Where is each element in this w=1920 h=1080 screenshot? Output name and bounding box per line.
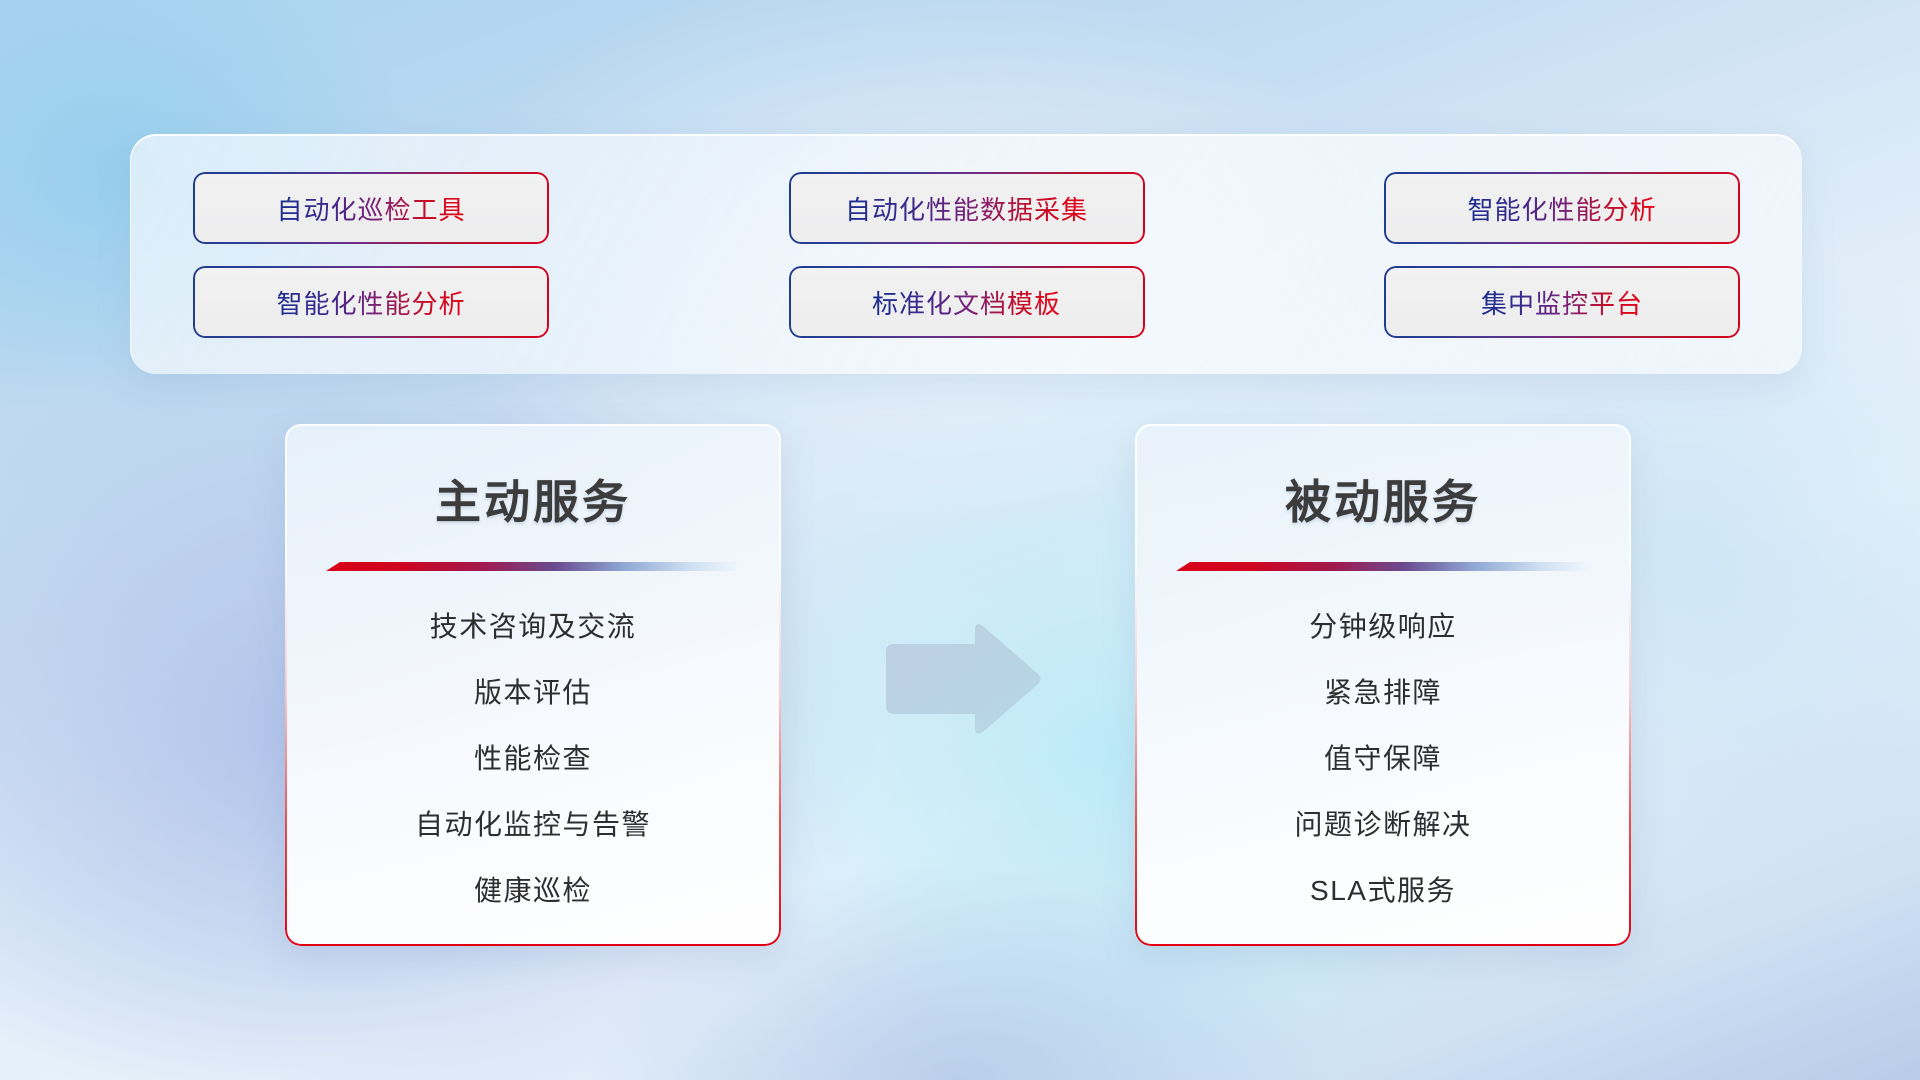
capability-pill-label: 自动化性能数据采集 (845, 190, 1088, 227)
capability-pill-label: 自动化巡检工具 (276, 190, 465, 227)
list-item: 技术咨询及交流 (430, 605, 637, 645)
list-item: 分钟级响应 (1309, 605, 1457, 645)
infographic-canvas: 自动化巡检工具 自动化性能数据采集 智能化性能分析 智能化性能分析 标准化文档模… (0, 0, 1920, 1080)
list-item: SLA式服务 (1310, 869, 1456, 909)
list-item: 自动化监控与告警 (415, 803, 651, 843)
list-item: 问题诊断解决 (1294, 803, 1471, 843)
capabilities-row-2: 智能化性能分析 标准化文档模板 集中监控平台 (193, 266, 1740, 338)
capability-pill-intelligent-performance-analysis-top[interactable]: 智能化性能分析 (1384, 172, 1740, 244)
capability-pill-automated-performance-data-collection[interactable]: 自动化性能数据采集 (789, 172, 1145, 244)
list-item: 版本评估 (474, 671, 592, 711)
capability-pill-standardized-document-template[interactable]: 标准化文档模板 (789, 266, 1145, 338)
capabilities-row-1: 自动化巡检工具 自动化性能数据采集 智能化性能分析 (193, 172, 1740, 244)
list-item: 紧急排障 (1324, 671, 1442, 711)
card-item-list: 分钟级响应 紧急排障 值守保障 问题诊断解决 SLA式服务 (1135, 605, 1631, 909)
list-item: 健康巡检 (474, 869, 592, 909)
capability-pill-label: 智能化性能分析 (276, 284, 465, 321)
service-card-proactive[interactable]: 主动服务 技术咨询及交流 版本评估 性能检查 自动化监控与告警 健康巡检 (285, 424, 781, 946)
right-arrow-icon (878, 618, 1044, 740)
capability-pill-label: 标准化文档模板 (872, 284, 1061, 321)
capability-pill-label: 智能化性能分析 (1467, 190, 1656, 227)
card-title: 主动服务 (285, 466, 781, 532)
card-divider-accent (326, 562, 740, 571)
service-card-reactive[interactable]: 被动服务 分钟级响应 紧急排障 值守保障 问题诊断解决 SLA式服务 (1135, 424, 1631, 946)
list-item: 性能检查 (474, 737, 592, 777)
capability-pill-intelligent-performance-analysis-bottom[interactable]: 智能化性能分析 (193, 266, 549, 338)
capabilities-panel: 自动化巡检工具 自动化性能数据采集 智能化性能分析 智能化性能分析 标准化文档模… (130, 134, 1802, 374)
capability-pill-centralized-monitoring-platform[interactable]: 集中监控平台 (1384, 266, 1740, 338)
card-divider-accent (1176, 562, 1590, 571)
card-item-list: 技术咨询及交流 版本评估 性能检查 自动化监控与告警 健康巡检 (285, 605, 781, 909)
card-title: 被动服务 (1135, 466, 1631, 532)
list-item: 值守保障 (1324, 737, 1442, 777)
capability-pill-automated-inspection-tool[interactable]: 自动化巡检工具 (193, 172, 549, 244)
capability-pill-label: 集中监控平台 (1481, 284, 1643, 321)
